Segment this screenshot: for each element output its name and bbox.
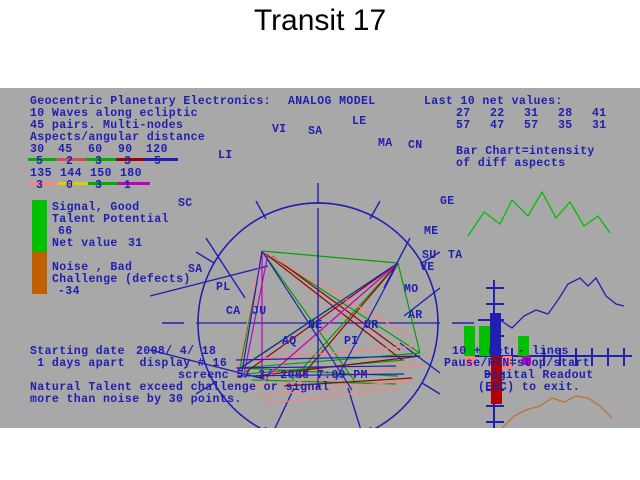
label-LI: LI xyxy=(218,150,233,162)
net-value-label: Net value xyxy=(52,238,118,250)
label-GE: GE xyxy=(440,196,455,208)
netvalue-9: 35 xyxy=(558,120,573,132)
label-VI: VI xyxy=(272,124,287,136)
aspect-color-bar-150 xyxy=(88,182,118,185)
label-SC: SC xyxy=(178,198,193,210)
label-SA-left: SA xyxy=(188,264,203,276)
signal-good-bar xyxy=(32,200,47,252)
barchart-lower-line xyxy=(502,396,612,428)
label-CA: CA xyxy=(226,306,241,318)
label-CN: CN xyxy=(408,140,423,152)
label-PL: PL xyxy=(216,282,231,294)
signal-bad-value: -34 xyxy=(58,286,80,298)
application-screen: Geocentric Planetary Electronics: ANALOG… xyxy=(0,88,640,428)
label-AR: AR xyxy=(408,310,423,322)
aspect-color-bar-180 xyxy=(118,182,150,185)
label-MO: MO xyxy=(404,284,419,296)
aspect-count-120: 5 xyxy=(154,156,161,168)
netvalue-6: 57 xyxy=(456,120,471,132)
netvalue-10: 31 xyxy=(592,120,607,132)
page-title: Transit 17 xyxy=(0,4,640,38)
label-JU: JU xyxy=(252,306,267,318)
barchart-overlay-line xyxy=(500,278,624,328)
analog-model-label: ANALOG MODEL xyxy=(288,96,376,108)
label-VE: VE xyxy=(420,262,435,274)
netvalue-7: 47 xyxy=(490,120,505,132)
label-ME: ME xyxy=(424,226,439,238)
label-NE: NE xyxy=(308,320,323,332)
label-LE: LE xyxy=(352,116,367,128)
aspect-count-150: 3 xyxy=(95,180,102,192)
label-MA: MA xyxy=(378,138,393,150)
net-value-number: 31 xyxy=(128,238,143,250)
label-SA-top: SA xyxy=(308,126,323,138)
aspect-count-135: 3 xyxy=(36,180,43,192)
label-PI: PI xyxy=(344,336,359,348)
netvalues-trendline xyxy=(468,192,610,236)
aspect-count-180: 1 xyxy=(124,180,131,192)
label-AQ: AQ xyxy=(282,336,297,348)
barchart-caption-line2: of diff aspects xyxy=(456,158,566,170)
signal-bad-bar xyxy=(32,252,47,294)
summary-line2: more than noise by 30 points. xyxy=(30,394,242,406)
netvalue-8: 57 xyxy=(524,120,539,132)
exit-hint[interactable]: (ESC) to exit. xyxy=(478,382,580,394)
label-UR: UR xyxy=(364,320,379,332)
label-TA: TA xyxy=(448,250,463,262)
aspect-count-144: 0 xyxy=(66,180,73,192)
